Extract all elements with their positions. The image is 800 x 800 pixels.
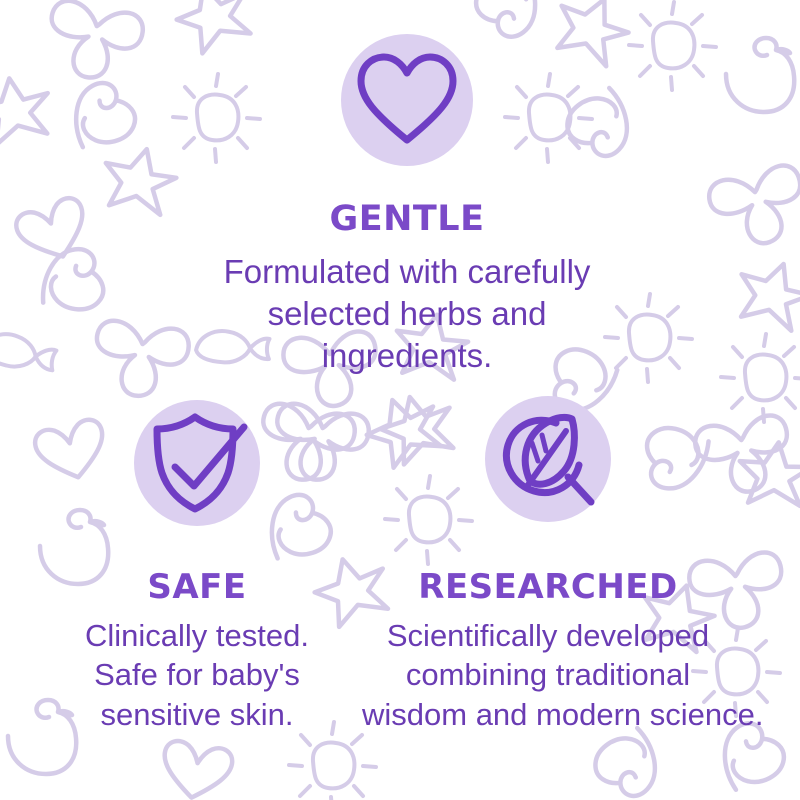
star-doodle <box>728 252 800 337</box>
butterfly-doodle <box>41 0 146 87</box>
description-line: Scientifically developed <box>362 616 734 655</box>
star-doodle <box>734 437 800 510</box>
feature-safe: SAFE Clinically tested. Safe for baby's … <box>42 400 352 734</box>
star-doodle <box>0 73 54 146</box>
feature-gentle-title: GENTLE <box>150 202 664 237</box>
description-line: combining traditional <box>362 655 734 694</box>
heart-icon <box>355 52 459 148</box>
butterfly-doodle <box>706 162 800 254</box>
safe-icon-badge <box>134 400 260 526</box>
feature-researched-description: Scientifically developed combining tradi… <box>362 616 734 734</box>
fish-doodle <box>0 332 58 371</box>
shield-check-icon <box>143 411 251 515</box>
gentle-icon-badge <box>341 34 473 166</box>
heart-swirl-doodle <box>587 726 668 800</box>
leaf-magnifier-icon <box>496 407 600 511</box>
feature-gentle: GENTLE Formulated with carefully selecte… <box>150 34 664 378</box>
feature-gentle-description: Formulated with carefully selected herbs… <box>150 251 664 378</box>
heart-doodle <box>158 739 234 800</box>
description-line: ingredients. <box>150 335 664 377</box>
benefits-infographic: GENTLE Formulated with carefully selecte… <box>0 0 800 800</box>
feature-safe-title: SAFE <box>42 570 352 604</box>
duck-doodle <box>726 38 794 112</box>
description-line: Formulated with carefully <box>150 251 664 293</box>
description-line: sensitive skin. <box>42 695 352 734</box>
description-line: wisdom and modern science. <box>362 695 734 734</box>
heart-swirl-doodle <box>41 244 110 313</box>
feature-safe-description: Clinically tested. Safe for baby's sensi… <box>42 616 352 734</box>
heart-swirl-doodle <box>69 77 139 148</box>
description-line: Clinically tested. <box>42 616 352 655</box>
description-line: selected herbs and <box>150 293 664 335</box>
description-line: Safe for baby's <box>42 655 352 694</box>
researched-icon-badge <box>485 396 611 522</box>
feature-researched: RESEARCHED Scientifically developed comb… <box>362 396 734 734</box>
feature-researched-title: RESEARCHED <box>362 570 734 604</box>
heart-doodle <box>13 194 95 268</box>
